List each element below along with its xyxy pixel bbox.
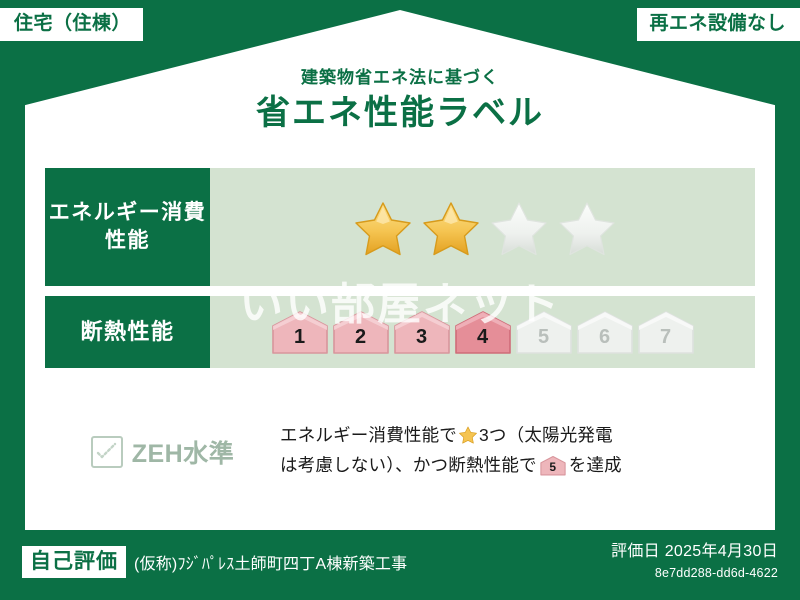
- zeh-criteria-block: ZEH水準 エネルギー消費性能で3つ（太陽光発電 は考慮しない）、かつ断熱性能で…: [45, 420, 755, 480]
- energy-performance-label-poster: 住宅（住棟） 再エネ設備なし 建築物省エネ法に基づく 省エネ性能ラベル いい部屋…: [0, 0, 800, 600]
- grade-value: 3: [393, 309, 451, 355]
- title-subtitle: 建築物省エネ法に基づく: [0, 68, 800, 88]
- zeh-description: エネルギー消費性能で3つ（太陽光発電 は考慮しない）、かつ断熱性能で5を達成: [280, 420, 755, 480]
- zeh-description-part2: 3つ（太陽光発電: [479, 425, 613, 445]
- grade-badge: 5: [515, 309, 573, 355]
- title-block: 建築物省エネ法に基づく 省エネ性能ラベル: [0, 68, 800, 136]
- grade-value: 5: [515, 309, 573, 355]
- insulation-grade-scale: 1 2 3: [271, 309, 695, 355]
- insulation-performance-value: 1 2 3: [210, 296, 755, 368]
- evaluation-type-badge: 自己評価: [22, 546, 126, 578]
- renewable-energy-badge: 再エネ設備なし: [637, 8, 800, 41]
- footer-left-group: 自己評価 (仮称)ﾌｼﾞﾊﾟﾚｽ土師町四丁A棟新築工事: [22, 546, 407, 578]
- star-filled-icon: [420, 197, 482, 257]
- footer-bar: 自己評価 (仮称)ﾌｼﾞﾊﾟﾚｽ土師町四丁A棟新築工事 評価日 2025年4月3…: [0, 530, 800, 600]
- star-rating: [352, 197, 618, 257]
- zeh-checkbox-icon: [91, 436, 123, 468]
- building-type-badge: 住宅（住棟）: [0, 8, 143, 41]
- star-filled-icon: [352, 197, 414, 257]
- footer-right-group: 評価日 2025年4月30日 8e7dd288-dd6d-4622: [611, 542, 778, 581]
- grade-badge: 3: [393, 309, 451, 355]
- energy-performance-value: [210, 168, 755, 286]
- grade-value: 6: [576, 309, 634, 355]
- grade-badge: 6: [576, 309, 634, 355]
- zeh-description-part3: は考慮しない）、かつ断熱性能で: [280, 455, 537, 475]
- star-empty-icon: [556, 197, 618, 257]
- document-id: 8e7dd288-dd6d-4622: [611, 565, 778, 581]
- grade-badge: 7: [637, 309, 695, 355]
- inline-grade-value: 5: [540, 455, 566, 476]
- zeh-description-part4: を達成: [569, 455, 622, 475]
- grade-value: 2: [332, 309, 390, 355]
- energy-performance-row: エネルギー消費性能: [45, 168, 755, 286]
- insulation-performance-row: 断熱性能 1 2: [45, 296, 755, 368]
- project-name: (仮称)ﾌｼﾞﾊﾟﾚｽ土師町四丁A棟新築工事: [134, 550, 407, 574]
- insulation-performance-label: 断熱性能: [45, 296, 210, 368]
- grade-badge-current: 4: [454, 309, 512, 355]
- zeh-label: ZEH水準: [132, 434, 235, 470]
- grade-value: 4: [454, 309, 512, 355]
- grade-value: 1: [271, 309, 329, 355]
- evaluation-date: 評価日 2025年4月30日: [611, 542, 778, 563]
- inline-star-icon: [458, 425, 478, 444]
- inline-grade-badge: 5: [540, 455, 566, 476]
- page-title: 省エネ性能ラベル: [0, 91, 800, 135]
- star-empty-icon: [488, 197, 550, 257]
- grade-badge: 2: [332, 309, 390, 355]
- zeh-description-part1: エネルギー消費性能で: [280, 425, 457, 445]
- zeh-mark: ZEH水準: [45, 420, 280, 470]
- energy-performance-label: エネルギー消費性能: [45, 168, 210, 286]
- grade-badge: 1: [271, 309, 329, 355]
- grade-value: 7: [637, 309, 695, 355]
